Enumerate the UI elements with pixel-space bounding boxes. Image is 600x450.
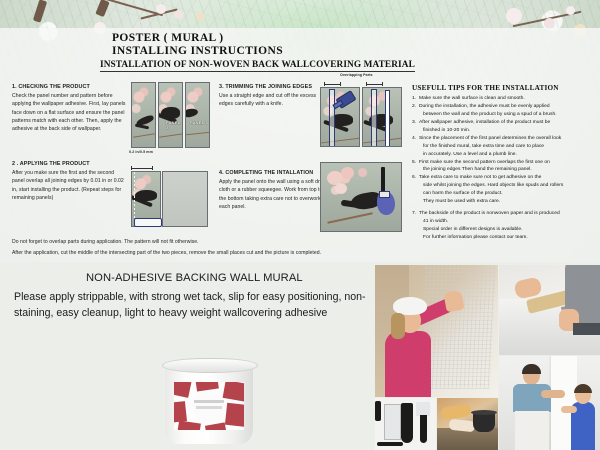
tip-7-line-1: The backside of the product is nonwoven … bbox=[419, 211, 560, 216]
step-3-heading: 3. TRIMMING THE JOINING EDGES bbox=[219, 84, 329, 90]
tip-1-line-1: Make sure the wall surface is clean and … bbox=[419, 96, 525, 101]
paste-pot-shape bbox=[473, 412, 495, 432]
mural-panel-1 bbox=[131, 82, 156, 148]
belt-shape bbox=[573, 323, 600, 335]
step-1-heading: 1. CHECKING THE PRODUCT bbox=[12, 84, 128, 90]
photo-tool-set bbox=[375, 398, 436, 450]
seam-roller-icon bbox=[377, 442, 403, 446]
tip-2-number: 2. bbox=[412, 103, 416, 111]
woman-hair-shape bbox=[391, 313, 405, 339]
footer-note-1: Do not forget to overlap parts during ap… bbox=[12, 239, 199, 245]
photo-man-and-child bbox=[499, 356, 600, 450]
bucket-label-text-line-1 bbox=[194, 400, 224, 403]
wallpaper-sheet-shape bbox=[420, 265, 497, 389]
man-pants-shape bbox=[515, 411, 549, 450]
step-2-block: 2 . APPLYING THE PRODUCT After you make … bbox=[12, 161, 128, 202]
step-3-body: Use a straight edge and cut off the exce… bbox=[219, 92, 329, 109]
tip-item-4: 4.Since the placement of the first panel… bbox=[412, 135, 596, 159]
applying-panel-right bbox=[162, 171, 208, 227]
tip-3-line-1: After wallpaper adhesive, installation o… bbox=[419, 120, 550, 125]
section-heading: INSTALLATION OF NON-WOVEN BACK WALLCOVER… bbox=[100, 60, 415, 72]
tip-7-number: 7. bbox=[412, 210, 416, 218]
woman-torso-shape bbox=[385, 331, 431, 397]
squeegee-tool-icon bbox=[134, 218, 162, 227]
tip-item-6: 6.Take extra care to make sure not to ge… bbox=[412, 174, 596, 206]
promo-body: Please apply strippable, with strong wet… bbox=[14, 289, 366, 321]
completing-panel bbox=[320, 162, 402, 232]
tip-7-line-3: Special order in different designs is av… bbox=[419, 226, 596, 234]
overlap-dimension-line bbox=[131, 166, 153, 170]
trimming-panel-left bbox=[320, 87, 360, 147]
step-4-block: 4. COMPLETING THE INTALLATION Apply the … bbox=[219, 170, 329, 211]
mural-panel-3: PANEL 3 bbox=[185, 82, 210, 148]
photo-woman-hanging-wallpaper bbox=[375, 265, 498, 397]
useful-tips-section: USEFULL TIPS FOR THE INSTALLATION 1.Make… bbox=[412, 84, 596, 242]
trim-dimension-line-left bbox=[324, 82, 341, 86]
man-arm-shape bbox=[541, 390, 565, 398]
instruction-sheet-page: POSTER ( MURAL ) INSTALLING INSTRUCTIONS… bbox=[0, 0, 600, 450]
trimming-panel-right bbox=[362, 87, 402, 147]
photo-roller-on-wallpaper bbox=[499, 265, 600, 355]
step-1-body: Check the panel number and pattern befor… bbox=[12, 92, 128, 133]
tip-4-number: 4. bbox=[412, 135, 416, 143]
tip-6-number: 6. bbox=[412, 174, 416, 182]
bucket-label bbox=[174, 382, 244, 430]
tip-item-7: 7.The backside of the product is nonwove… bbox=[412, 210, 596, 242]
tip-item-1: 1.Make sure the wall surface is clean an… bbox=[412, 95, 596, 103]
tip-4-line-3: in accurately. Use a level and a plumb l… bbox=[419, 151, 596, 159]
promo-heading: NON-ADHESIVE BACKING WALL MURAL bbox=[86, 272, 303, 284]
child-arm-shape bbox=[561, 406, 577, 413]
mural-panel-2: PANEL 2 bbox=[158, 82, 183, 148]
step-4-body: Apply the panel onto the wall using a so… bbox=[219, 178, 329, 211]
tip-7-line-4: For further information please contact o… bbox=[419, 234, 596, 242]
step-2-body: After you make sure the first and the se… bbox=[12, 169, 128, 202]
scraper-blade-icon bbox=[416, 402, 430, 416]
tip-6-line-2: side whilst joining the edges. Hard obje… bbox=[419, 182, 596, 190]
tip-1-number: 1. bbox=[412, 95, 416, 103]
tips-heading: USEFULL TIPS FOR THE INSTALLATION bbox=[412, 84, 596, 92]
smoothing-blade-icon bbox=[384, 404, 401, 440]
poster-subtitle: INSTALLING INSTRUCTIONS bbox=[112, 45, 283, 57]
step-3-block: 3. TRIMMING THE JOINING EDGES Use a stra… bbox=[219, 84, 329, 109]
bucket-label-text-line-2 bbox=[196, 406, 222, 409]
tip-2-line-1: During the installation, the adhesive mu… bbox=[419, 104, 550, 109]
plastic-smoother-icon bbox=[401, 403, 413, 443]
tip-4-line-1: Since the placement of the first panel d… bbox=[419, 136, 561, 141]
step-4-heading: 4. COMPLETING THE INTALLATION bbox=[219, 170, 329, 176]
straight-edge-ruler-left bbox=[329, 89, 335, 147]
tip-3-number: 3. bbox=[412, 119, 416, 127]
tip-3-line-2: finished in 10-20 min. bbox=[419, 127, 596, 135]
scraper-handle-icon bbox=[420, 415, 427, 443]
photo-rolls-and-tools bbox=[437, 398, 498, 450]
trim-dimension-line-right bbox=[366, 82, 383, 86]
tip-6-line-1: Take extra care to make sure not to get … bbox=[419, 175, 541, 180]
tip-item-5: 5.First make sure the second pattern ove… bbox=[412, 159, 596, 175]
tip-4-line-2: for the finished mural, take extra time … bbox=[419, 143, 596, 151]
tip-5-number: 5. bbox=[412, 159, 416, 167]
step-2-heading: 2 . APPLYING THE PRODUCT bbox=[12, 161, 128, 167]
adhesive-bucket-image bbox=[160, 358, 258, 446]
trimming-edges-diagram: Overlapping Parts bbox=[320, 82, 404, 150]
man-shirt-shape bbox=[513, 384, 551, 412]
wallpaper-roll-shape bbox=[440, 404, 471, 420]
paste-pot-rim-shape bbox=[471, 410, 497, 415]
panel-2-label: PANEL 2 bbox=[166, 120, 182, 130]
bucket-lid bbox=[162, 358, 258, 373]
poster-title: POSTER ( MURAL ) bbox=[112, 32, 224, 44]
footer-note-2: After the application, cut the middle of… bbox=[12, 250, 321, 256]
straight-edge-ruler-right bbox=[371, 89, 377, 147]
tip-item-2: 2.During the installation, the adhesive … bbox=[412, 103, 596, 119]
blossom-branch-top-left-icon bbox=[10, 0, 80, 30]
applying-product-diagram bbox=[131, 166, 211, 232]
tip-7-line-2: 41 in width. bbox=[419, 218, 596, 226]
completing-installation-diagram bbox=[320, 162, 404, 234]
panel-3-label: PANEL 3 bbox=[190, 120, 208, 125]
overlapping-parts-caption: Overlapping Parts bbox=[340, 73, 373, 77]
tip-5-line-2: the joining edges Then hand the remainin… bbox=[419, 166, 596, 174]
utility-knife-icon bbox=[375, 401, 381, 421]
tip-6-line-4: They must be used with extra care. bbox=[419, 198, 596, 206]
panel-dimension-label: 0.2 in/0.5 mm bbox=[129, 150, 153, 154]
tip-item-3: 3.After wallpaper adhesive, installation… bbox=[412, 119, 596, 135]
tip-5-line-1: First make sure the second pattern overl… bbox=[419, 160, 550, 165]
tip-6-line-3: can harm the surface of the product. bbox=[419, 190, 596, 198]
step-1-block: 1. CHECKING THE PRODUCT Check the panel … bbox=[12, 84, 128, 133]
photo-collage bbox=[375, 265, 600, 450]
panel-layout-diagram: PANEL 2 PANEL 3 0.2 in/0.5 mm bbox=[131, 82, 211, 152]
tips-list: 1.Make sure the wall surface is clean an… bbox=[412, 95, 596, 242]
tip-2-line-2: between the wall and the product by usin… bbox=[419, 111, 596, 119]
man-hair-shape bbox=[522, 364, 541, 374]
